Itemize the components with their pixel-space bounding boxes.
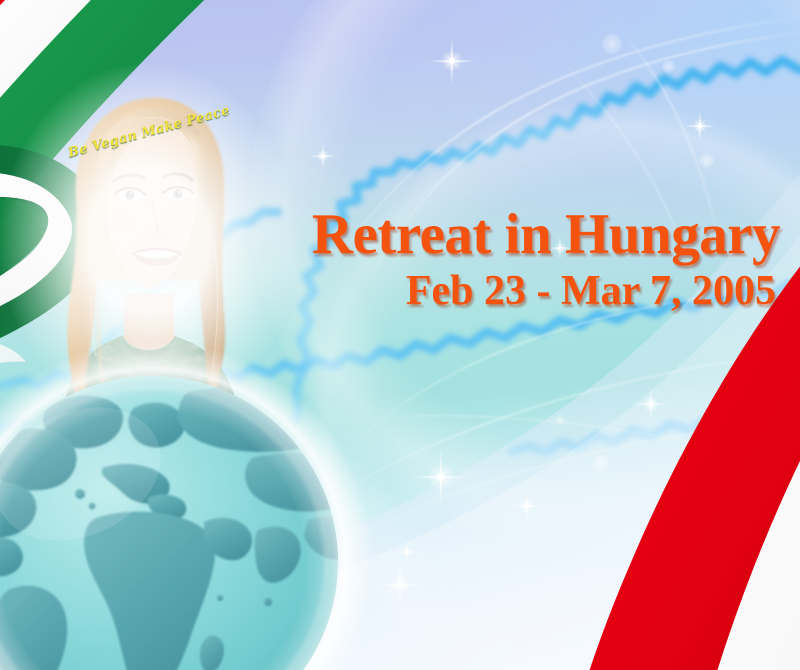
poster-canvas: Be Vegan Make Peace: [0, 0, 800, 670]
title-block: Retreat in Hungary Feb 23 - Mar 7, 2005: [268, 206, 782, 313]
earth-globe: [0, 362, 352, 670]
page-title: Retreat in Hungary: [268, 206, 782, 263]
event-date-range: Feb 23 - Mar 7, 2005: [268, 269, 782, 313]
